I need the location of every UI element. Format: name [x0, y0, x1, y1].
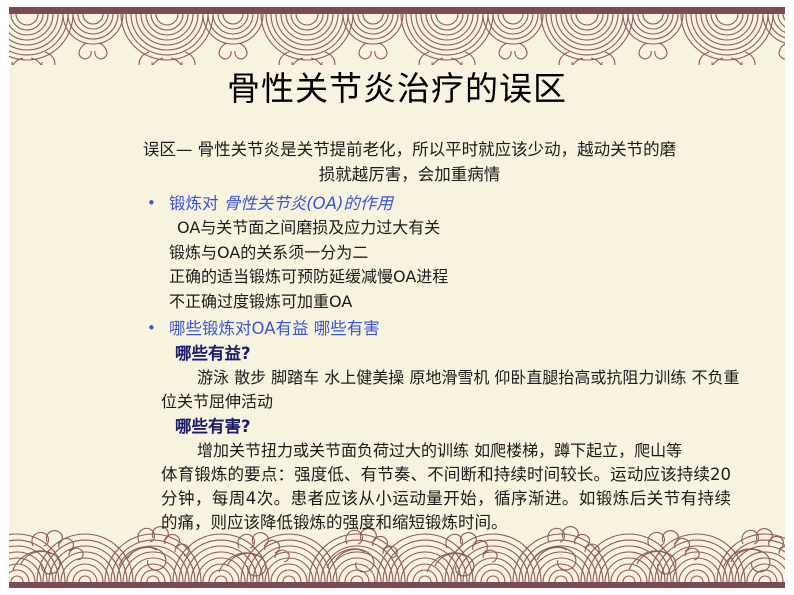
- slide-background: 骨性关节炎治疗的误区 误区— 骨性关节炎是关节提前老化，所以平时就应该少动，越动…: [9, 7, 785, 588]
- bullet-dot-icon: •: [147, 316, 169, 341]
- content-body: • 锻炼对 骨性关节炎(OA)的作用 OA与关节面之间磨损及应力过大有关 锻炼与…: [147, 191, 747, 535]
- bullet-heading-text: 哪些锻炼对OA有益 哪些有害: [169, 316, 380, 341]
- sub-heading-beneficial: 哪些有益?: [147, 341, 747, 366]
- closing-paragraph: 体育锻炼的要点：强度低、有节奏、不间断和持续时间较长。运动应该持续20分钟，每周…: [147, 463, 731, 535]
- bullet-dot-icon: •: [147, 191, 169, 216]
- sub-heading-harmful: 哪些有害?: [147, 414, 747, 439]
- slide-canvas: 骨性关节炎治疗的误区 误区— 骨性关节炎是关节提前老化，所以平时就应该少动，越动…: [0, 0, 794, 595]
- bullet-heading-exercise-effect: • 锻炼对 骨性关节炎(OA)的作用: [147, 191, 747, 216]
- harmful-exercises-text: 增加关节扭力或关节面负荷过大的训练 如爬楼梯，蹲下起立，爬山等: [147, 439, 747, 463]
- intro-paragraph: 误区— 骨性关节炎是关节提前老化，所以平时就应该少动，越动关节的磨损就越厉害，会…: [137, 137, 682, 187]
- beneficial-exercises-text: 游泳 散步 脚踏车 水上健美操 原地滑雪机 仰卧直腿抬高或抗阻力训练 不负重位关…: [147, 366, 747, 414]
- heading-italic-part: 骨性关节炎(OA)的作用: [224, 194, 393, 213]
- list-item: OA与关节面之间磨损及应力过大有关: [147, 216, 747, 241]
- bullet-heading-text: 锻炼对 骨性关节炎(OA)的作用: [169, 191, 393, 216]
- page-title: 骨性关节炎治疗的误区: [9, 69, 785, 109]
- list-item: 正确的适当锻炼可预防延缓减慢OA进程: [147, 265, 747, 290]
- chinese-cloud-border-top-icon: [9, 7, 785, 65]
- list-item: 锻炼与OA的关系须一分为二: [147, 241, 747, 266]
- list-item: 不正确过度锻炼可加重OA: [147, 290, 747, 315]
- bullet-heading-benefit-harm: • 哪些锻炼对OA有益 哪些有害: [147, 316, 747, 341]
- heading-plain-part: 锻炼对: [169, 194, 224, 213]
